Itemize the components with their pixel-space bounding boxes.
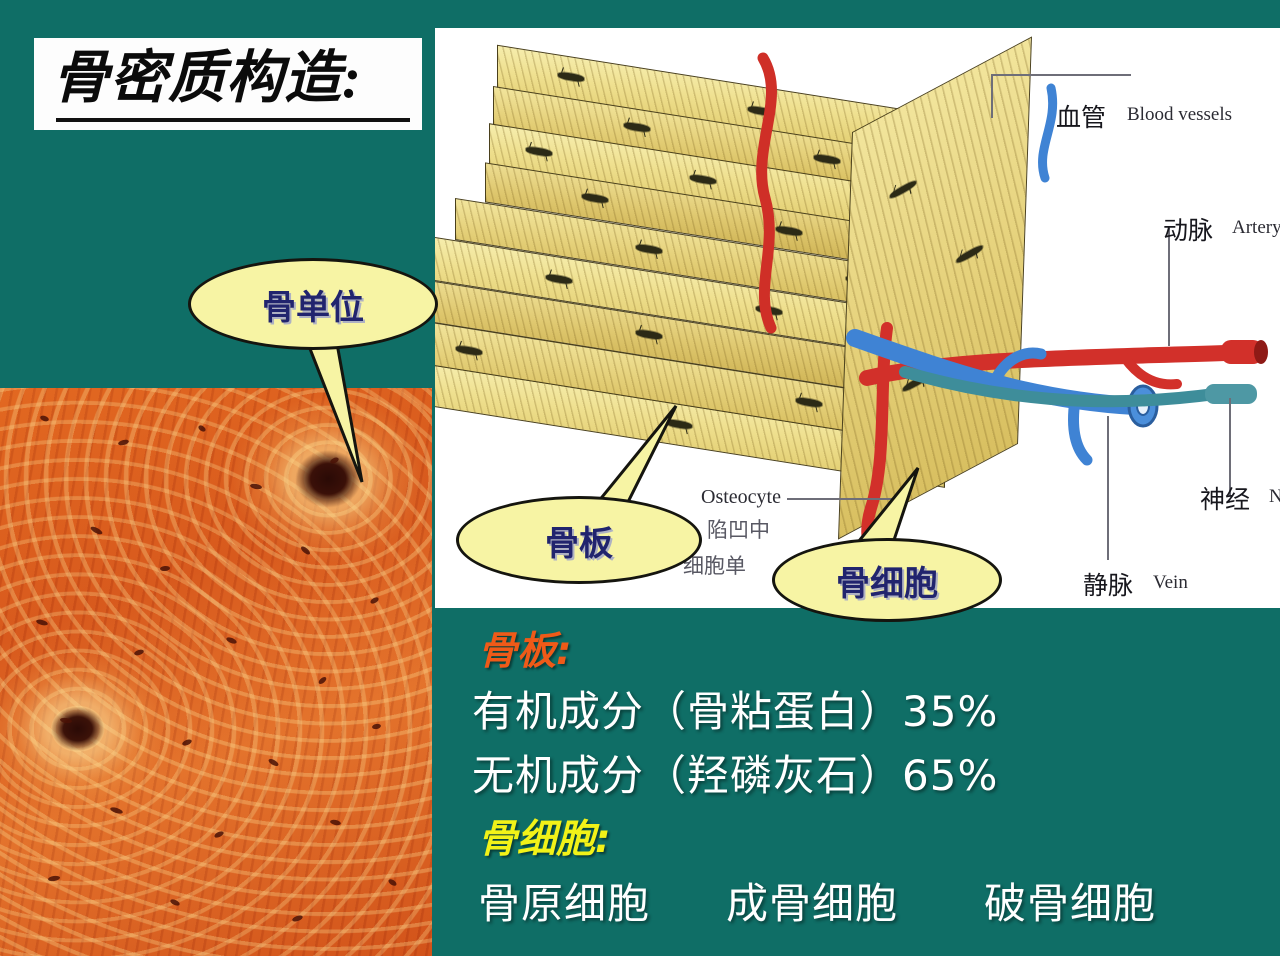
label-nerve-cn: 神经	[1200, 480, 1250, 516]
line-inorganic-composition: 无机成分（羟磷灰石）65%	[472, 742, 998, 803]
cell-type-osteoprogenitor: 骨原细胞	[478, 870, 650, 931]
label-blood-vessels-en: Blood vessels	[1127, 104, 1232, 126]
callout-osteon-label: 骨单位	[262, 280, 364, 329]
label-artery-cn: 动脉	[1163, 211, 1213, 247]
leader-line-blood-vessels	[991, 74, 1131, 76]
callout-osteocyte[interactable]: 骨细胞	[772, 538, 1002, 622]
title-box: 骨密质构造:	[34, 38, 422, 130]
callout-osteon[interactable]: 骨单位	[188, 258, 438, 350]
callout-osteocyte-label: 骨细胞	[836, 556, 938, 605]
label-nerve-en: Nerve	[1269, 486, 1280, 508]
label-artery-en: Artery	[1232, 217, 1280, 239]
title-underline	[56, 118, 410, 122]
line-organic-composition: 有机成分（骨粘蛋白）35%	[472, 678, 998, 739]
page-title: 骨密质构造:	[52, 42, 412, 116]
leader-line-vein	[1107, 416, 1109, 560]
label-blood-vessels-cn: 血管	[1056, 98, 1106, 134]
label-vein-cn: 静脉	[1083, 566, 1133, 602]
leader-line-blood-vessels-drop	[991, 74, 993, 118]
callout-lamella-label: 骨板	[545, 516, 613, 565]
cell-type-osteoclast: 破骨细胞	[984, 870, 1156, 931]
callout-lamella[interactable]: 骨板	[456, 496, 702, 584]
slide-root: 骨密质构造:	[0, 0, 1280, 956]
cell-type-osteoblast: 成骨细胞	[726, 870, 898, 931]
heading-bone-cells: 骨细胞:	[478, 808, 611, 864]
label-vein-en: Vein	[1153, 572, 1188, 594]
heading-lamella: 骨板:	[478, 620, 572, 676]
content-text-block: 骨板: 有机成分（骨粘蛋白）35% 无机成分（羟磷灰石）65% 骨细胞: 骨原细…	[440, 612, 1280, 956]
